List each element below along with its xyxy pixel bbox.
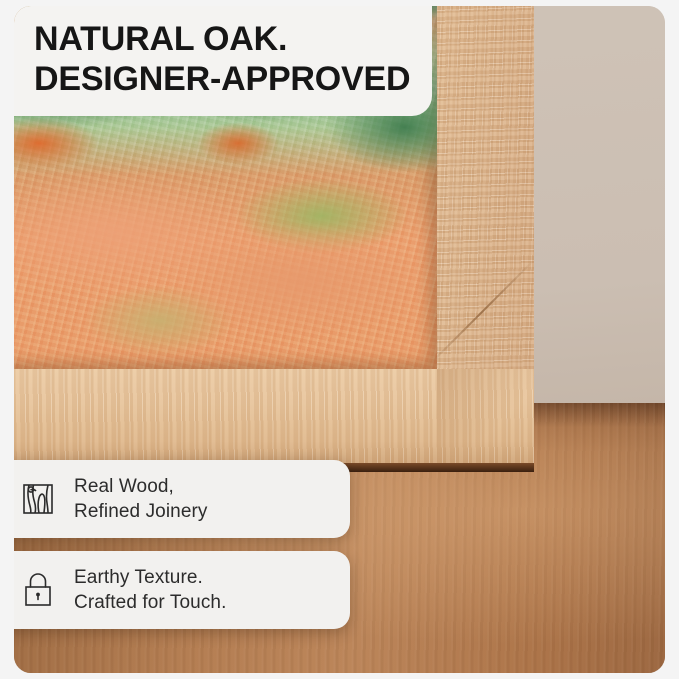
feature-badge-earthy-texture: Earthy Texture. Crafted for Touch.	[14, 551, 350, 629]
padlock-icon	[18, 568, 58, 612]
frame-mitre-shading	[437, 369, 534, 466]
marketing-image: NATURAL OAK. DESIGNER-APPROVED	[0, 0, 679, 679]
headline-line-2: DESIGNER-APPROVED	[34, 60, 410, 100]
feature-line-1: Real Wood,	[74, 476, 174, 497]
headline-line-1: NATURAL OAK.	[34, 20, 410, 60]
feature-badge-real-wood: Real Wood, Refined Joinery	[14, 460, 350, 538]
feature-badge-text: Earthy Texture. Crafted for Touch.	[74, 565, 226, 615]
wood-grain-icon	[18, 477, 58, 521]
headline-panel: NATURAL OAK. DESIGNER-APPROVED	[14, 6, 432, 116]
feature-line-1: Earthy Texture.	[74, 567, 203, 588]
feature-badge-list: Real Wood, Refined Joinery Earthy Textur…	[14, 460, 350, 629]
feature-badge-text: Real Wood, Refined Joinery	[74, 474, 208, 524]
product-photo: NATURAL OAK. DESIGNER-APPROVED	[14, 6, 665, 673]
feature-line-2: Crafted for Touch.	[74, 590, 226, 615]
feature-line-2: Refined Joinery	[74, 499, 208, 524]
